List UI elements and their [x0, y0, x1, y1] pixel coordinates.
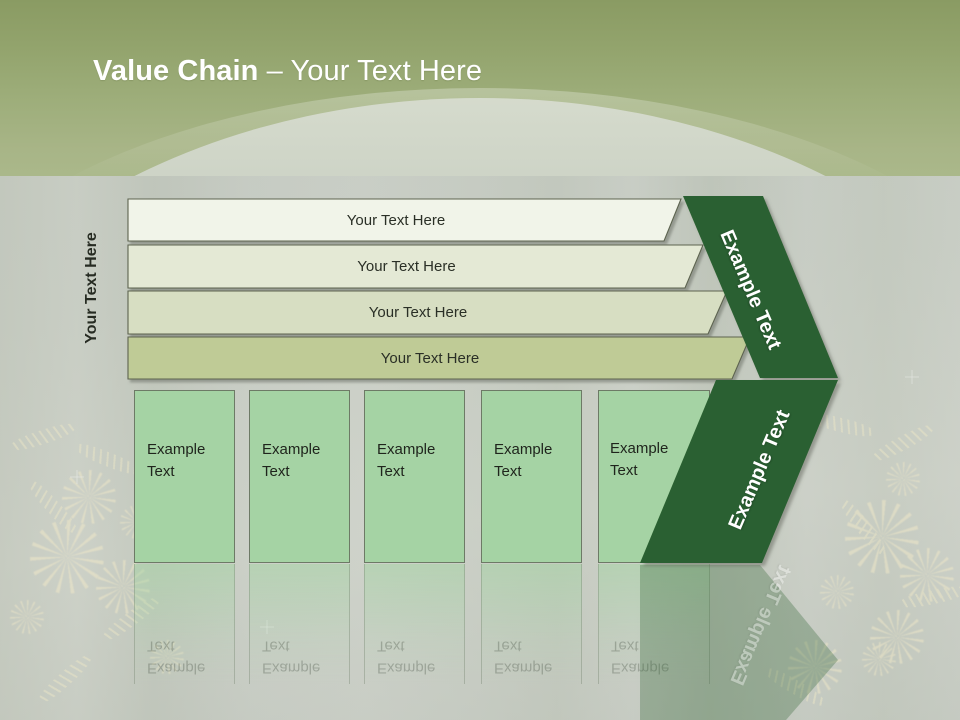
margin-arrows-layer: [0, 0, 960, 720]
primary-box-5-line1: Example: [610, 438, 710, 460]
slide-canvas: Value Chain – Your Text Here Your Text H…: [0, 0, 960, 720]
primary-box-5-line2: Text: [610, 460, 710, 482]
primary-box-5-text: Example Text: [598, 390, 710, 482]
